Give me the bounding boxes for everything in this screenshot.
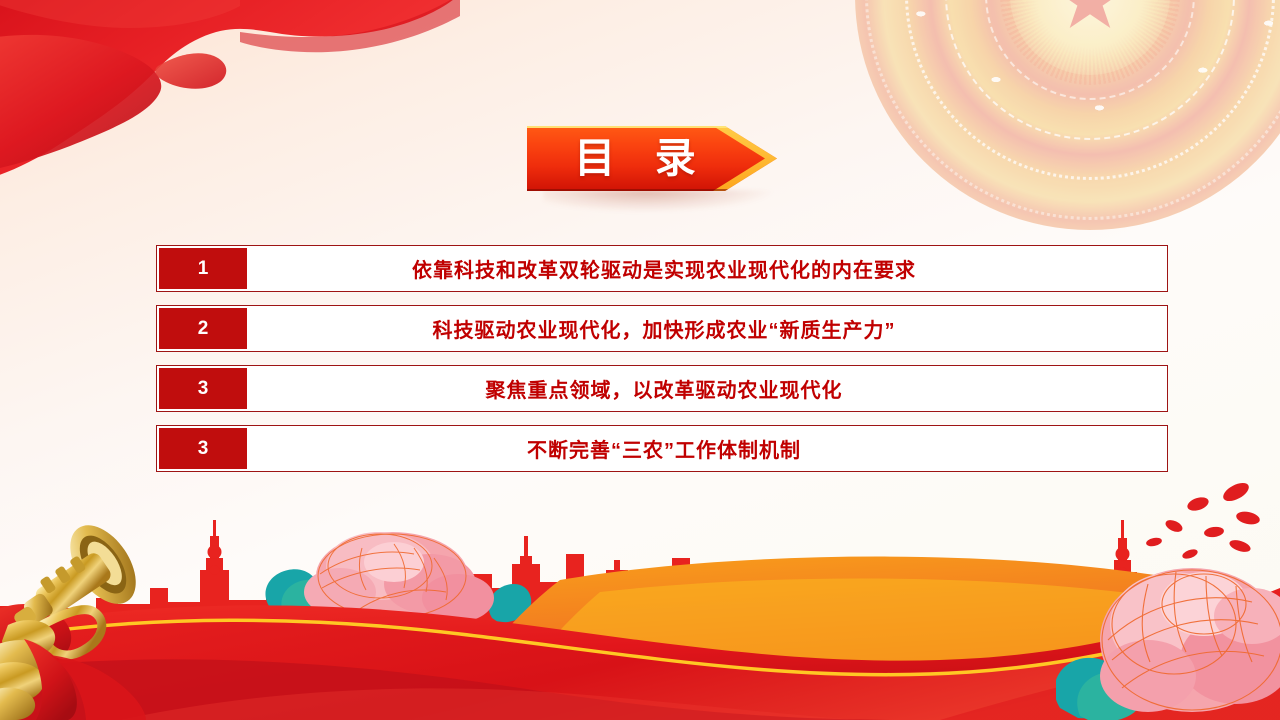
list-item[interactable]: 2 科技驱动农业现代化，加快形成农业“新质生产力” [156, 305, 1168, 352]
banner-shadow [543, 190, 773, 212]
presentation-slide: 目 录 1 依靠科技和改革双轮驱动是实现农业现代化的内在要求 2 科技驱动农业现… [0, 0, 1280, 720]
list-item[interactable]: 3 聚焦重点领域，以改革驱动农业现代化 [156, 365, 1168, 412]
item-number-badge: 2 [159, 308, 247, 349]
item-number-badge: 1 [159, 248, 247, 289]
item-number-badge: 3 [159, 428, 247, 469]
item-label: 依靠科技和改革双轮驱动是实现农业现代化的内在要求 [247, 246, 1167, 291]
list-item[interactable]: 1 依靠科技和改革双轮驱动是实现农业现代化的内在要求 [156, 245, 1168, 292]
gold-trumpet-icon [0, 505, 240, 720]
slide-title-banner: 目 录 [527, 126, 779, 196]
bottom-decoration [0, 470, 1280, 720]
star-medallion-decoration [855, 0, 1280, 230]
item-number-badge: 3 [159, 368, 247, 409]
item-label: 科技驱动农业现代化，加快形成农业“新质生产力” [247, 306, 1167, 351]
item-label: 不断完善“三农”工作体制机制 [247, 426, 1167, 471]
peony-flowers-right-icon [1056, 520, 1280, 720]
table-of-contents-list: 1 依靠科技和改革双轮驱动是实现农业现代化的内在要求 2 科技驱动农业现代化，加… [156, 245, 1168, 485]
red-silk-flag-decoration [0, 0, 460, 194]
page-title: 目 录 [527, 126, 743, 191]
item-label: 聚焦重点领域，以改革驱动农业现代化 [247, 366, 1167, 411]
list-item[interactable]: 3 不断完善“三农”工作体制机制 [156, 425, 1168, 472]
